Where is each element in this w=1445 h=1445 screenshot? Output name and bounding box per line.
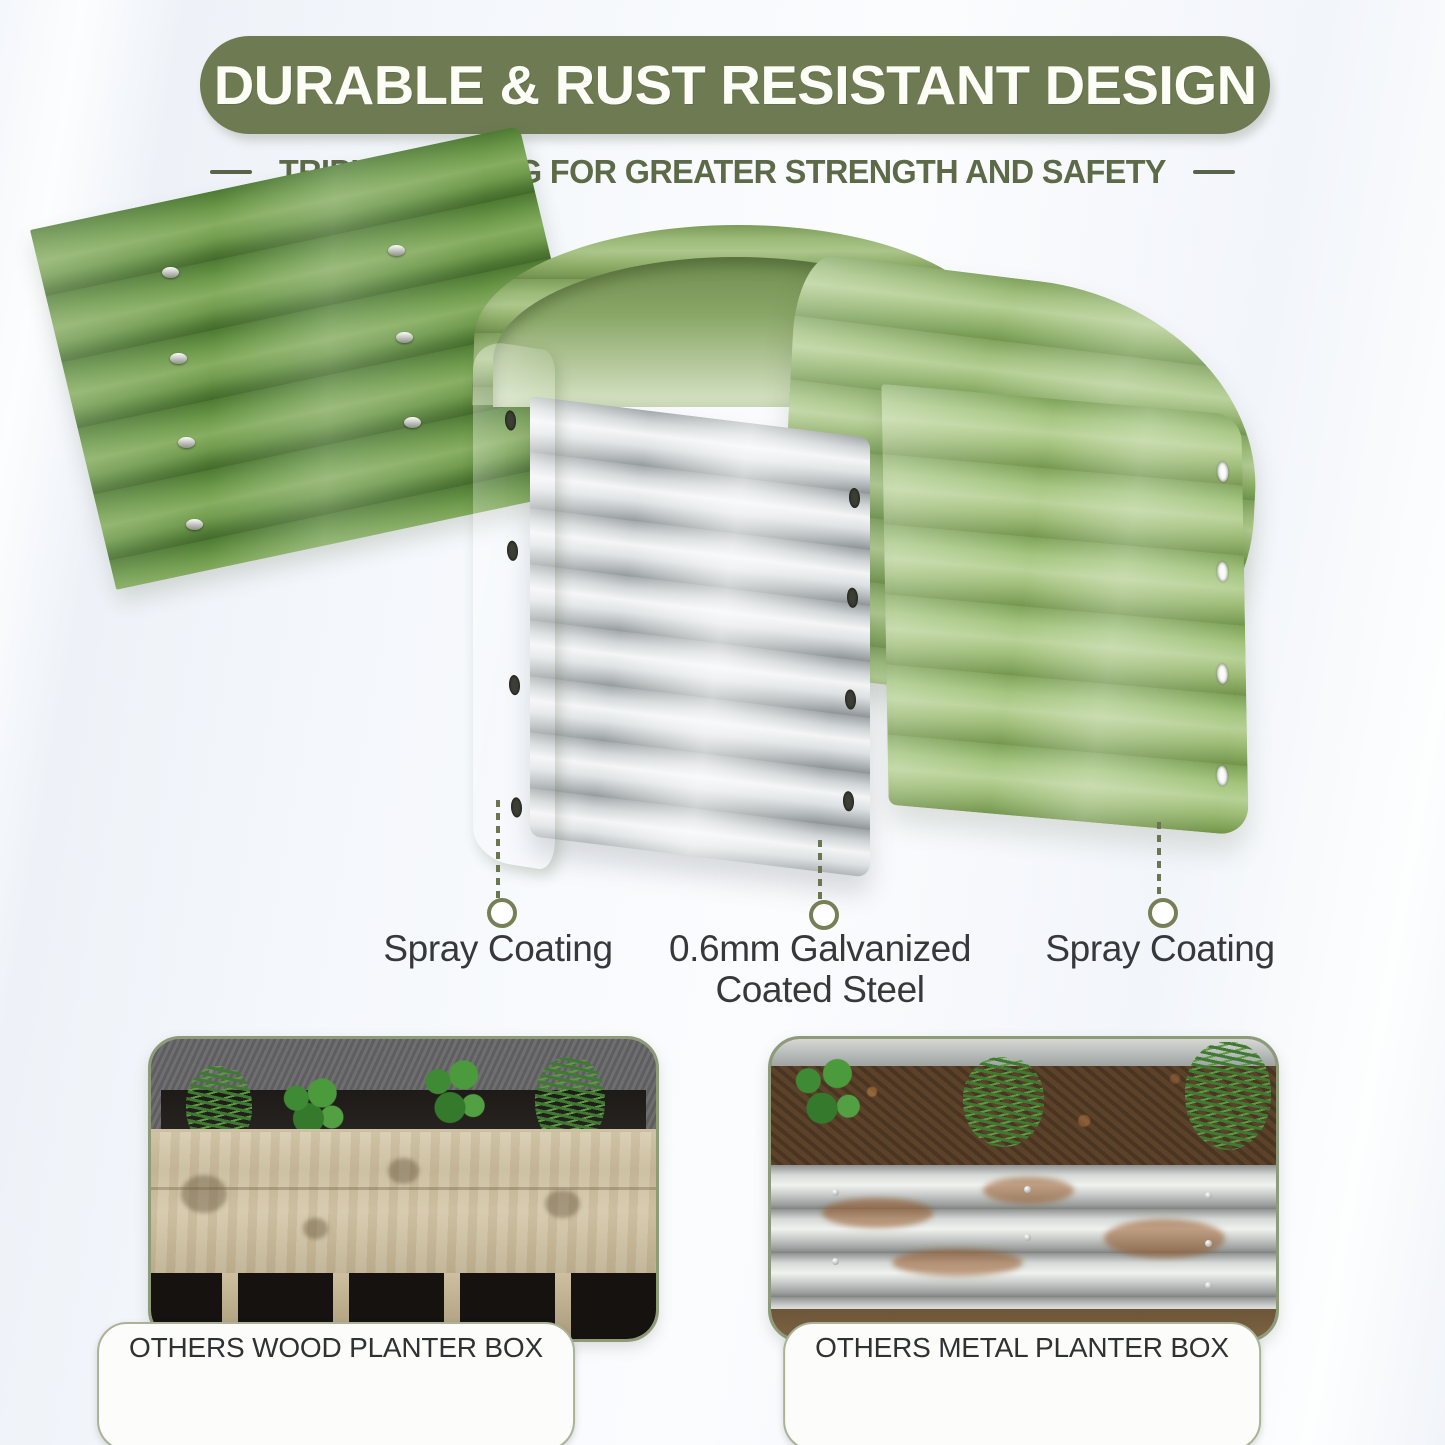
wood-knot [181, 1175, 226, 1212]
leader-line [1157, 822, 1161, 904]
ring-marker-icon [487, 898, 517, 928]
bolt-hole-icon [1217, 663, 1228, 684]
raised-bed-body [455, 225, 1265, 865]
leader-line [818, 840, 822, 902]
callout-label: Spray Coating [348, 928, 648, 969]
wood-knot [388, 1158, 418, 1184]
ring-marker-icon [1148, 898, 1178, 928]
caption-wood-planter: OTHERS WOOD PLANTER BOX [97, 1322, 575, 1445]
plant-seedling [963, 1057, 1044, 1147]
page-title: DURABLE & RUST RESISTANT DESIGN [214, 53, 1257, 117]
photo-wood-front-board [151, 1132, 656, 1276]
rivet-icon [1205, 1282, 1212, 1289]
galvanized-steel-panel [530, 396, 870, 878]
bolt-hole-icon [1217, 461, 1228, 482]
wood-knot [545, 1190, 580, 1219]
title-banner: DURABLE & RUST RESISTANT DESIGN [200, 36, 1270, 134]
rivet-icon [832, 1189, 839, 1196]
panel-gloss [530, 396, 870, 878]
rivet-icon [1205, 1192, 1212, 1199]
screw-icon [186, 519, 203, 530]
bolt-hole-icon [843, 791, 854, 812]
dash-right-icon [1193, 170, 1235, 174]
bolt-hole-icon [1217, 561, 1228, 582]
subtitle-row: TRIPLE COATING FOR GREATER STRENGTH AND … [0, 148, 1445, 196]
rivet-icon [832, 1258, 839, 1265]
infographic-canvas: DURABLE & RUST RESISTANT DESIGN TRIPLE C… [0, 0, 1445, 1445]
screw-icon [162, 267, 179, 278]
rivet-icon [1024, 1186, 1031, 1193]
comparison-card-wood[interactable] [148, 1036, 659, 1342]
plant-tomato [781, 1045, 872, 1147]
screw-icon [388, 245, 405, 256]
rusted-metal-planter-box-photo [771, 1039, 1276, 1339]
screw-icon [404, 417, 421, 428]
bolt-hole-icon [1216, 765, 1227, 786]
rust-stain [822, 1198, 933, 1228]
screw-icon [396, 332, 413, 343]
product-illustration [0, 205, 1445, 885]
screw-icon [178, 437, 195, 448]
wood-planter-box-photo [151, 1039, 656, 1339]
bolt-hole-icon [847, 587, 858, 608]
dash-left-icon [210, 170, 252, 174]
callout-label: 0.6mm Galvanized Coated Steel [655, 928, 985, 1011]
screw-icon [170, 353, 187, 364]
rivet-icon [1024, 1234, 1031, 1241]
plant-tomato [1185, 1042, 1271, 1150]
comparison-card-metal[interactable] [768, 1036, 1279, 1342]
bolt-hole-icon [849, 487, 860, 508]
rust-stain [1104, 1219, 1225, 1258]
rust-stain [892, 1249, 1023, 1276]
front-green-spray-coated-panel [881, 384, 1248, 836]
ring-marker-icon [809, 900, 839, 930]
leader-line [496, 800, 500, 898]
wood-knot [303, 1218, 328, 1238]
left-spray-coated-edge [473, 339, 555, 872]
photo-corrugated-metal-wall [771, 1165, 1276, 1315]
caption-metal-planter: OTHERS METAL PLANTER BOX [783, 1322, 1261, 1445]
callout-label: Spray Coating [1010, 928, 1310, 969]
bolt-hole-icon [845, 689, 856, 710]
panel-gloss [881, 384, 1248, 836]
